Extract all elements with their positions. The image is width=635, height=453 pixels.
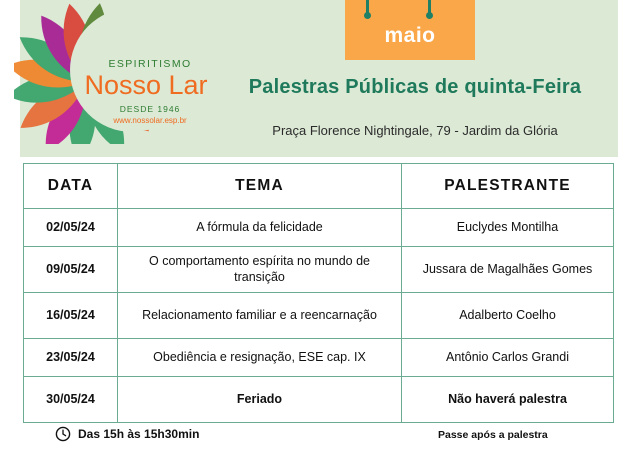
cell-date: 30/05/24 [24, 377, 118, 423]
cell-date: 16/05/24 [24, 293, 118, 339]
logo-eyebrow: ESPIRITISMO [100, 58, 200, 70]
cell-tema: Obediência e resignação, ESE cap. IX [118, 339, 402, 377]
logo-nosso-lar: ESPIRITISMO Nosso Lar DESDE 1946 www.nos… [14, 0, 204, 144]
cell-date: 02/05/24 [24, 209, 118, 247]
cell-tema: O comportamento espírita no mundo de tra… [118, 247, 402, 293]
logo-website: www.nossolar.esp.br [90, 116, 210, 125]
table-row: 16/05/24 Relacionamento familiar e a ree… [24, 293, 614, 339]
cell-date: 23/05/24 [24, 339, 118, 377]
column-header-tema: TEMA [118, 164, 402, 209]
cell-palestrante: Adalberto Coelho [402, 293, 614, 339]
clock-icon [55, 426, 71, 442]
footer: Das 15h às 15h30min Passe após a palestr… [0, 423, 635, 453]
cell-tema: A fórmula da felicidade [118, 209, 402, 247]
cell-palestrante: Antônio Carlos Grandi [402, 339, 614, 377]
logo-name: Nosso Lar [84, 70, 208, 101]
cell-tema: Relacionamento familiar e a reencarnação [118, 293, 402, 339]
logo-since: DESDE 1946 [100, 104, 200, 114]
table-row: 09/05/24 O comportamento espírita no mun… [24, 247, 614, 293]
table-header-row: DATA TEMA PALESTRANTE [24, 164, 614, 209]
footer-note: Passe após a palestra [438, 429, 548, 441]
calendar-pin-right-icon [428, 0, 431, 14]
cell-palestrante: Euclydes Montilha [402, 209, 614, 247]
venue-address: Praça Florence Nightingale, 79 - Jardim … [205, 123, 625, 138]
cell-palestrante: Não haverá palestra [402, 377, 614, 423]
table-row: 23/05/24 Obediência e resignação, ESE ca… [24, 339, 614, 377]
schedule-table: DATA TEMA PALESTRANTE 02/05/24 A fórmula… [23, 163, 614, 423]
column-header-data: DATA [24, 164, 118, 209]
calendar-pin-left-icon [366, 0, 369, 14]
footer-time-block: Das 15h às 15h30min [55, 426, 199, 442]
cell-tema: Feriado [118, 377, 402, 423]
cell-palestrante: Jussara de Magalhães Gomes [402, 247, 614, 293]
table-row: 30/05/24 Feriado Não haverá palestra [24, 377, 614, 423]
footer-time-label: Das 15h às 15h30min [78, 427, 199, 441]
cell-date: 09/05/24 [24, 247, 118, 293]
column-header-palestrante: PALESTRANTE [402, 164, 614, 209]
month-badge: maio [345, 0, 475, 60]
month-badge-label: maio [345, 24, 475, 48]
table-row: 02/05/24 A fórmula da felicidade Euclyde… [24, 209, 614, 247]
page-title: Palestras Públicas de quinta-Feira [205, 76, 625, 99]
